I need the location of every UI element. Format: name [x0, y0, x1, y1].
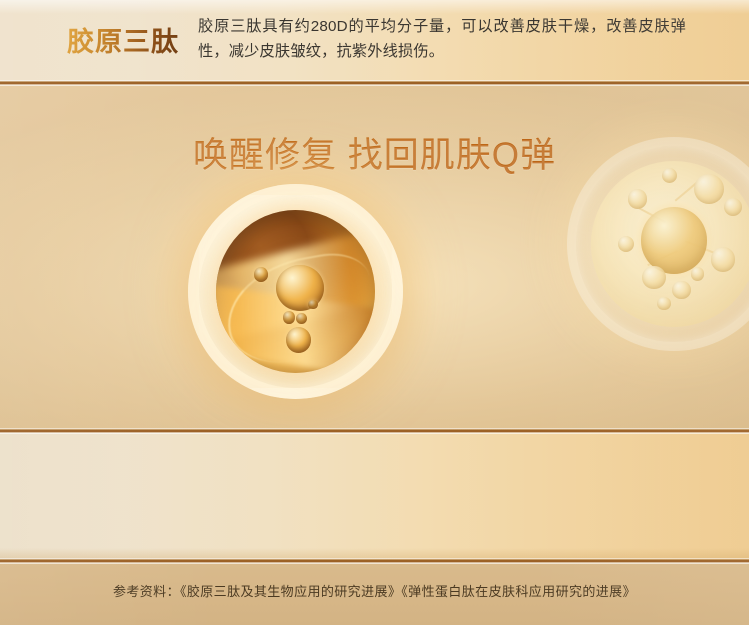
reference-list: 参考资料：《胶原三肽及其生物应用的研究进展》《弹性蛋白肽在皮肤科应用研究的进展》	[0, 581, 749, 600]
serum-bubble-icon	[724, 198, 742, 216]
collagen-term-title: 胶原三肽	[67, 20, 179, 59]
product-ingredient-infographic: 胶原三肽 胶原三肽具有约280D的平均分子量，可以改善皮肤干燥，改善皮肤弹性，减…	[0, 0, 749, 625]
footer-section: 参考资料：《胶原三肽及其生物应用的研究进展》《弹性蛋白肽在皮肤科应用研究的进展》	[0, 563, 749, 625]
elastin-section: 弹性蛋白肽 皮肤损伤的修复过程包括角质形成细胞迁移、血管再生、纤维母细胞的增殖、…	[0, 431, 749, 560]
gel-bubble-icon	[308, 300, 318, 310]
serum-bubble-icon	[628, 189, 648, 209]
divider-bottom	[0, 558, 749, 564]
serum-bubble-icon	[618, 236, 635, 253]
amber-gel-petri-dish	[188, 184, 403, 399]
serum-bubble-icon	[691, 267, 704, 280]
serum-bubble-icon	[672, 281, 690, 299]
serum-bubble-icon	[711, 247, 736, 272]
serum-core	[591, 161, 749, 327]
amber-gel-core	[216, 210, 375, 373]
gel-bubble-icon	[296, 313, 307, 324]
molecule-core-sphere	[641, 207, 707, 273]
serum-bubble-icon	[694, 174, 724, 204]
serum-bubble-icon	[642, 266, 665, 289]
hero-section: 唤醒修复 找回肌肤Q弹	[0, 83, 749, 430]
gel-bubble-icon	[254, 267, 268, 282]
divider-middle	[0, 428, 749, 434]
collagen-section: 胶原三肽 胶原三肽具有约280D的平均分子量，可以改善皮肤干燥，改善皮肤弹性，减…	[0, 0, 749, 83]
serum-bubble-icon	[657, 297, 670, 310]
divider-top	[0, 80, 749, 86]
serum-bubble-icon	[662, 168, 677, 183]
collagen-description: 胶原三肽具有约280D的平均分子量，可以改善皮肤干燥，改善皮肤弹性，减少皮肤皱纹…	[198, 14, 686, 64]
